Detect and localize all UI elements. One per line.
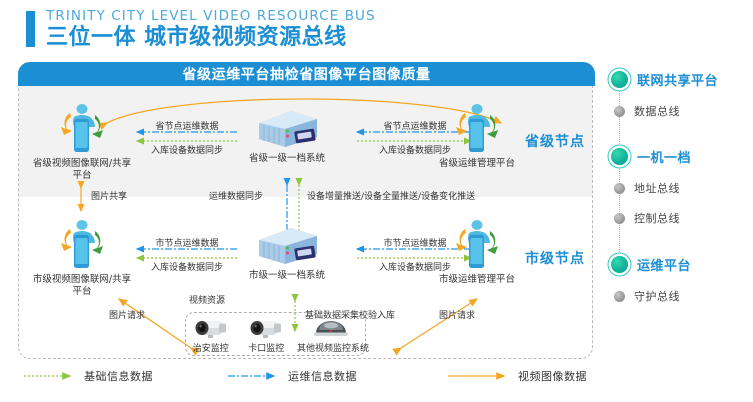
- person-tablet-icon: [445, 215, 509, 273]
- flow-label-picture-share: 图片共享: [91, 189, 127, 202]
- legend-item-basic-info: 基础信息数据: [24, 368, 153, 384]
- node-city-archive-system[interactable]: 市级一级一档系统: [227, 222, 347, 282]
- flow-label-city-right-green: 入库设备数据同步: [379, 260, 451, 273]
- teal-dot-icon: [611, 256, 628, 273]
- node-label: 市级视频图像联网/共享 平台: [22, 274, 142, 298]
- node-label: 省级运维管理平台: [417, 158, 537, 170]
- province-zone-tag: 省级节点: [525, 131, 585, 151]
- sidebar-group-label: 运维平台: [637, 255, 691, 274]
- legend-label: 基础信息数据: [84, 368, 153, 384]
- camera-item[interactable]: 卡口监控: [242, 316, 292, 354]
- sidebar-item[interactable]: 数据总线: [608, 99, 753, 123]
- camera-label: 其他视频监控系统: [297, 341, 365, 354]
- title-accent-bar: [26, 11, 35, 47]
- video-resource-group: 治安监控 卡口监控 其他视频监控系统: [185, 312, 366, 356]
- city-zone-tag: 市级节点: [525, 248, 585, 268]
- node-label: 省级一级一档系统: [227, 153, 347, 165]
- flow-label-city-right-blue: 市节点运维数据: [383, 236, 446, 249]
- sidebar-item[interactable]: 地址总线: [608, 176, 753, 200]
- sidebar-item[interactable]: 守护总线: [608, 284, 753, 308]
- legend-line-dash-dot: [228, 371, 280, 381]
- flow-label-picture-request-right: 图片请求: [439, 308, 475, 321]
- sidebar-group-0: 联网共享平台 数据总线: [608, 67, 753, 123]
- bullet-camera-icon: [186, 316, 236, 340]
- panel-header-title: 省级运维平台抽检省图像平台图像质量: [18, 62, 595, 86]
- sidebar-group-1: 一机一档 地址总线 控制总线: [608, 144, 753, 230]
- sidebar-group-header[interactable]: 运维平台: [608, 252, 753, 276]
- sidebar-item-label: 控制总线: [634, 210, 680, 226]
- gray-dot-icon: [614, 106, 625, 117]
- diagram-legend: 基础信息数据 运维信息数据 视频图像数据: [24, 368, 744, 392]
- camera-item[interactable]: 治安监控: [186, 316, 236, 354]
- node-city-ops-platform[interactable]: 市级运维管理平台: [417, 215, 537, 286]
- person-tablet-icon: [445, 99, 509, 157]
- sidebar-group-label: 联网共享平台: [637, 70, 718, 89]
- node-province-ops-platform[interactable]: 省级运维管理平台: [417, 99, 537, 170]
- camera-item[interactable]: 其他视频监控系统: [297, 316, 365, 354]
- sidebar-item-label: 数据总线: [634, 103, 680, 119]
- sidebar-item-label: 地址总线: [634, 180, 680, 196]
- teal-dot-icon: [611, 148, 628, 165]
- legend-line-dotted: [24, 371, 76, 381]
- person-tablet-icon: [50, 215, 114, 273]
- node-province-sharing-platform[interactable]: 省级视频图像联网/共享 平台: [22, 99, 142, 182]
- flow-label-video-resource: 视频资源: [189, 293, 225, 306]
- sidebar-group-2: 运维平台 守护总线: [608, 252, 753, 308]
- dome-camera-icon: [297, 316, 365, 340]
- sidebar-group-label: 一机一档: [637, 147, 691, 166]
- node-city-sharing-platform[interactable]: 市级视频图像联网/共享 平台: [22, 215, 142, 298]
- title-english: TRINITY CITY LEVEL VIDEO RESOURCE BUS: [46, 8, 376, 24]
- flow-label-picture-request-left: 图片请求: [109, 308, 145, 321]
- camera-label: 卡口监控: [242, 341, 292, 354]
- title-chinese: 三位一体 城市级视频资源总线: [46, 25, 376, 51]
- legend-label: 运维信息数据: [288, 368, 357, 384]
- flow-label-prov-left-green: 入库设备数据同步: [151, 143, 223, 156]
- gray-dot-icon: [614, 183, 625, 194]
- legend-item-ops-info: 运维信息数据: [228, 368, 357, 384]
- flow-label-city-left-green: 入库设备数据同步: [151, 260, 223, 273]
- node-province-archive-system[interactable]: 省级一级一档系统: [227, 105, 347, 165]
- camera-label: 治安监控: [186, 341, 236, 354]
- sidebar-item-label: 守护总线: [634, 288, 680, 304]
- server-icon: [251, 105, 323, 151]
- node-label: 市级运维管理平台: [417, 274, 537, 286]
- person-tablet-icon: [50, 99, 114, 157]
- node-label: 市级一级一档系统: [227, 270, 347, 282]
- teal-dot-icon: [611, 71, 628, 88]
- flow-label-prov-right-green: 入库设备数据同步: [379, 143, 451, 156]
- sidebar-group-header[interactable]: 一机一档: [608, 144, 753, 168]
- node-label: 省级视频图像联网/共享 平台: [22, 158, 142, 182]
- server-icon: [251, 222, 323, 268]
- legend-line-solid: [448, 371, 510, 381]
- bus-legend-sidebar: 联网共享平台 数据总线 一机一档 地址总线 控制总线 运维平台 守护总线: [608, 62, 753, 302]
- flow-label-device-push: 设备增量推送/设备全量推送/设备变化推送: [307, 189, 475, 202]
- bullet-camera-icon: [242, 316, 292, 340]
- flow-label-prov-right-blue: 省节点运维数据: [383, 119, 446, 132]
- sidebar-group-header[interactable]: 联网共享平台: [608, 67, 753, 91]
- flow-label-ops-data-sync: 运维数据同步: [209, 189, 263, 202]
- gray-dot-icon: [614, 291, 625, 302]
- sidebar-item[interactable]: 控制总线: [608, 206, 753, 230]
- page-title: TRINITY CITY LEVEL VIDEO RESOURCE BUS 三位…: [26, 8, 376, 51]
- title-texts: TRINITY CITY LEVEL VIDEO RESOURCE BUS 三位…: [46, 8, 376, 51]
- legend-label: 视频图像数据: [518, 368, 587, 384]
- gray-dot-icon: [614, 213, 625, 224]
- flow-label-city-left-blue: 市节点运维数据: [155, 236, 218, 249]
- legend-item-video-image: 视频图像数据: [448, 368, 587, 384]
- flow-label-prov-left-blue: 省节点运维数据: [155, 119, 218, 132]
